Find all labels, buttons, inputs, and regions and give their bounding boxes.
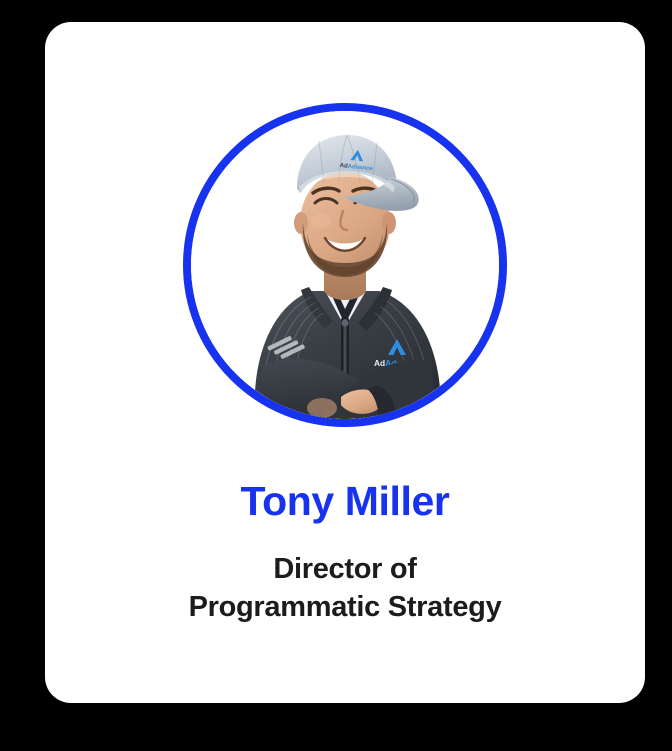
ear-left (294, 212, 308, 234)
hand-right (307, 398, 337, 418)
person-name: Tony Miller (69, 477, 621, 525)
person-role: Director of Programmatic Strategy (69, 551, 621, 626)
person-role-line-2: Programmatic Strategy (69, 589, 621, 627)
identity-block: Tony Miller Director of Programmatic Str… (45, 477, 645, 627)
team-member-card: AdAdvance (45, 22, 645, 703)
person-role-line-1: Director of (69, 551, 621, 589)
avatar: AdAdvance (191, 111, 499, 419)
zip-pull (341, 319, 348, 326)
page-background: AdAdvance (0, 0, 672, 751)
avatar-ring: AdAdvance (183, 103, 507, 427)
zip-teeth (344, 319, 347, 377)
portrait-illustration: AdAdvance (191, 111, 499, 419)
ear-right (382, 212, 396, 234)
cheek-highlight (311, 214, 331, 228)
